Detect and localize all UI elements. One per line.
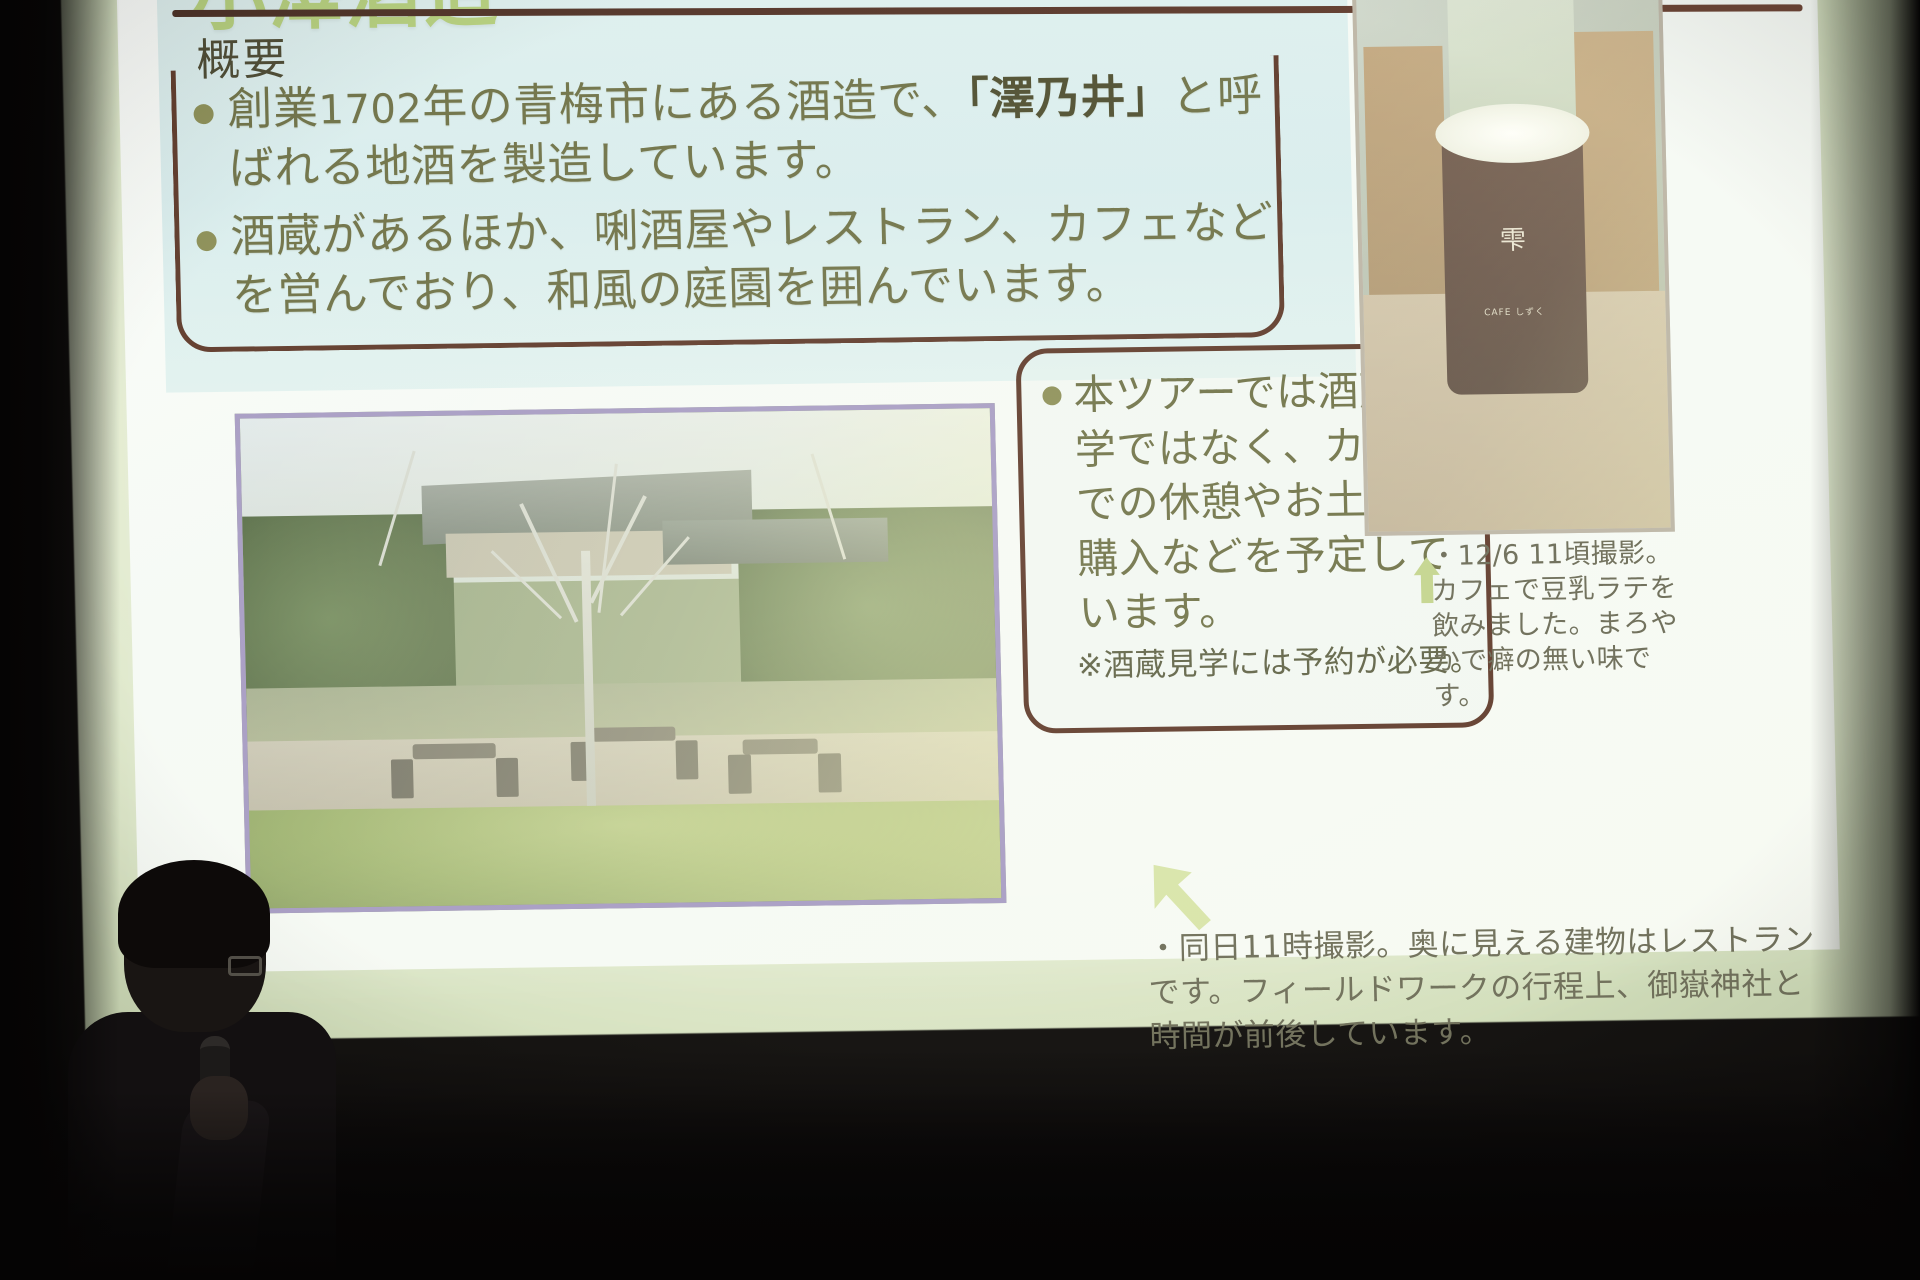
projector-glare-overlay [240, 408, 1002, 908]
bullet-item-facilities: 酒蔵があるほか、唎酒屋やレストラン、カフェなどを営んでおり、和風の庭園を囲んでい… [196, 192, 1289, 326]
glasses-icon [228, 956, 262, 976]
lecture-room-scene: 小澤酒造 概要 創業1702年の青梅市にある酒造で、「澤乃井」と呼ばれる地酒を製… [0, 0, 1920, 1280]
presenter-silhouette [60, 860, 360, 1280]
bullet-item-founding: 創業1702年の青梅市にある酒造で、「澤乃井」と呼ばれる地酒を製造しています。 [193, 65, 1286, 199]
bullet-text-founding: 創業1702年の青梅市にある酒造で、「澤乃井」と呼ばれる地酒を製造しています。 [227, 65, 1286, 198]
presentation-slide: 小澤酒造 概要 創業1702年の青梅市にある酒造で、「澤乃井」と呼ばれる地酒を製… [116, 0, 1840, 973]
presenter-hair [118, 860, 270, 968]
overview-bullet-list: 創業1702年の青梅市にある酒造で、「澤乃井」と呼ばれる地酒を製造しています。 … [193, 65, 1289, 334]
coffee-photo-caption: ・12/6 11頃撮影。カフェで豆乳ラテを飲みました。まろやかで癖の無い味です。 [1430, 535, 1689, 714]
bullet-text-facilities: 酒蔵があるほか、唎酒屋やレストラン、カフェなどを営んでおり、和風の庭園を囲んでい… [230, 192, 1289, 325]
bullet-dot-icon [1042, 386, 1061, 405]
tour-reservation-note: ※酒蔵見学には予約が必要。 [1076, 634, 1482, 685]
garden-photo-caption: ・同日11時撮影。奥に見える建物はレストランです。フィールドワークの行程上、御嶽… [1147, 918, 1830, 1060]
projector-glare-overlay [1355, 0, 1671, 532]
garden-photo [235, 403, 1007, 913]
bullet-dot-icon [193, 104, 213, 124]
bullet-dot-icon [196, 231, 216, 251]
coffee-photo: 雫 CAFE しずく [1351, 0, 1675, 536]
presenter-hand [190, 1076, 248, 1140]
